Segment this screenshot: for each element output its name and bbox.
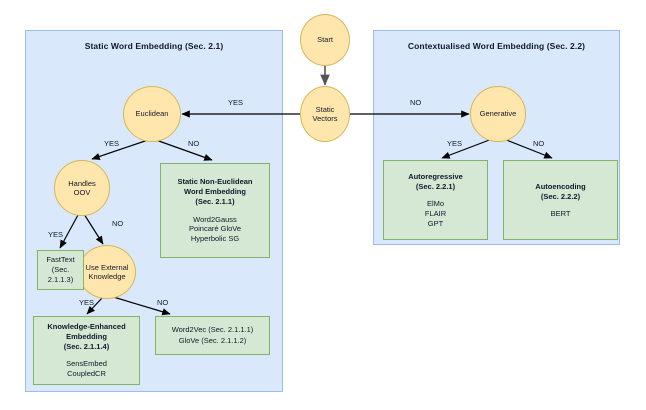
- node-autoregressive[interactable]: Autoregressive (Sec. 2.2.1) ElMo FLAIR G…: [383, 160, 488, 240]
- node-handles-oov[interactable]: Handles OOV: [54, 160, 110, 216]
- node-knowledge-enhanced[interactable]: Knowledge-Enhanced Embedding (Sec. 2.1.1…: [33, 316, 140, 385]
- group-contextualised-title: Contextualised Word Embedding (Sec. 2.2): [374, 41, 619, 51]
- node-autoregressive-title: Autoregressive (Sec. 2.2.1): [408, 172, 463, 192]
- node-fasttext[interactable]: FastText (Sec. 2.1.1.3): [37, 250, 84, 290]
- node-handles-oov-label: Handles OOV: [66, 179, 98, 198]
- edge-label-static-to-generative: NO: [410, 98, 421, 107]
- node-word2vec-glove[interactable]: Word2Vec (Sec. 2.1.1.1) GloVe (Sec. 2.1.…: [155, 316, 270, 355]
- node-static-non-euclidean-examples: Word2Gauss Poincaré GloVe Hyperbolic SG: [189, 215, 241, 244]
- group-static-title: Static Word Embedding (Sec. 2.1): [26, 41, 282, 51]
- node-start[interactable]: Start: [300, 14, 350, 66]
- node-fasttext-title: FastText (Sec. 2.1.1.3): [46, 255, 74, 285]
- edge-label-oov-yes: YES: [48, 230, 63, 239]
- edge-label-external-no: NO: [157, 298, 168, 307]
- node-knowledge-enhanced-title: Knowledge-Enhanced Embedding (Sec. 2.1.1…: [47, 322, 125, 352]
- node-autoregressive-examples: ElMo FLAIR GPT: [425, 199, 446, 228]
- node-start-label: Start: [315, 35, 335, 44]
- node-euclidean-label: Euclidean: [134, 109, 171, 118]
- edge-label-external-yes: YES: [79, 298, 94, 307]
- node-static-vectors[interactable]: Static Vectors: [300, 86, 350, 142]
- node-autoencoding-title: Autoencoding (Sec. 2.2.2): [535, 182, 585, 202]
- node-generative[interactable]: Generative: [470, 86, 526, 142]
- edge-label-generative-yes: YES: [447, 139, 462, 148]
- node-autoencoding-examples: BERT: [551, 209, 571, 219]
- edge-label-euclidean-no: NO: [188, 139, 199, 148]
- node-euclidean[interactable]: Euclidean: [123, 86, 181, 142]
- node-autoencoding[interactable]: Autoencoding (Sec. 2.2.2) BERT: [503, 160, 618, 240]
- edge-label-generative-no: NO: [533, 139, 544, 148]
- edge-label-oov-no: NO: [112, 219, 123, 228]
- node-static-non-euclidean-title: Static Non-Euclidean Word Embedding (Sec…: [177, 177, 252, 207]
- node-static-vectors-label: Static Vectors: [310, 105, 339, 124]
- edge-label-euclidean-yes: YES: [104, 139, 119, 148]
- node-static-non-euclidean[interactable]: Static Non-Euclidean Word Embedding (Sec…: [160, 163, 270, 258]
- flowchart-canvas: Static Word Embedding (Sec. 2.1) Context…: [0, 0, 646, 410]
- node-word2vec-glove-title: Word2Vec (Sec. 2.1.1.1) GloVe (Sec. 2.1.…: [172, 325, 254, 345]
- node-use-external-knowledge[interactable]: Use External Knowledge: [78, 245, 136, 299]
- node-use-external-knowledge-label: Use External Knowledge: [84, 263, 131, 282]
- node-generative-label: Generative: [478, 109, 519, 118]
- node-knowledge-enhanced-examples: SensEmbed CoupledCR: [66, 359, 107, 379]
- edge-label-static-to-euclidean: YES: [228, 98, 243, 107]
